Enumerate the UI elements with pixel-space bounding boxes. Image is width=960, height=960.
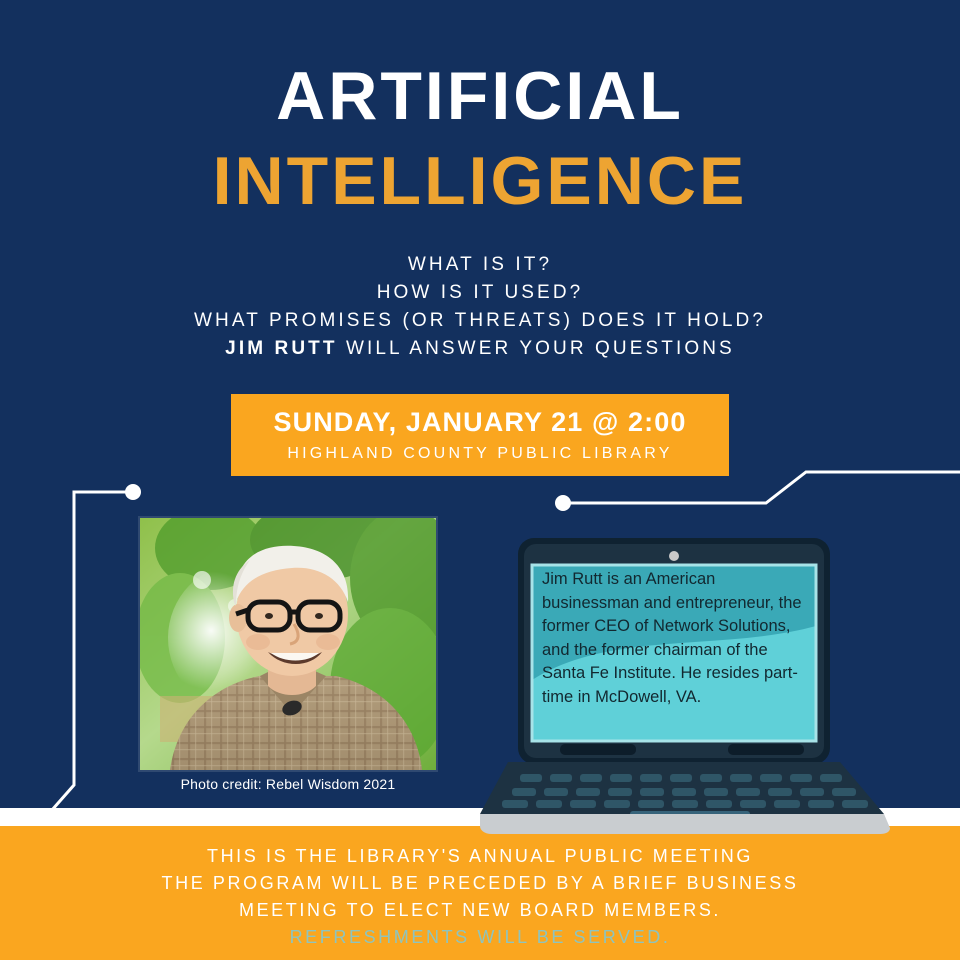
subtitle-text-3: WHAT PROMISES (OR THREATS) DOES IT HOLD? [194,310,766,331]
subtitle-line-4: JIM RUTT WILL ANSWER YOUR QUESTIONS [0,335,960,363]
poster-title: ARTIFICIAL INTELLIGENCE [0,62,960,217]
left-connector-dot-icon [125,484,141,500]
footer-line-3: MEETING TO ELECT NEW BOARD MEMBERS. [0,897,960,924]
footer-line-2: THE PROGRAM WILL BE PRECEDED BY A BRIEF … [0,870,960,897]
footer-line-refreshments: REFRESHMENTS WILL BE SERVED. [0,924,960,951]
subtitle-line-2: HOW IS IT USED? [0,279,960,307]
subtitle-text-2: HOW IS IT USED? [377,282,584,303]
footer-line-1: THIS IS THE LIBRARY'S ANNUAL PUBLIC MEET… [0,843,960,870]
left-connector-path [52,492,133,810]
footer-text-block: THIS IS THE LIBRARY'S ANNUAL PUBLIC MEET… [0,843,960,951]
event-venue-text: HIGHLAND COUNTY PUBLIC LIBRARY [287,445,672,463]
right-connector-path [563,472,960,503]
subtitle-line-3: WHAT PROMISES (OR THREATS) DOES IT HOLD? [0,307,960,335]
title-line-artificial: ARTIFICIAL [0,62,960,131]
speaker-photo [140,518,436,770]
laptop-webcam-icon [669,551,679,561]
right-connector-dot-icon [555,495,571,511]
speaker-name-bold: JIM RUTT [225,338,337,359]
event-details-banner: SUNDAY, JANUARY 21 @ 2:00 HIGHLAND COUNT… [231,394,729,476]
subtitle-text-1: WHAT IS IT? [408,254,552,275]
laptop-screen-text: Jim Rutt is an American businessman and … [542,568,810,710]
laptop-hinge-left [560,744,636,755]
subtitle-text-4: WILL ANSWER YOUR QUESTIONS [338,338,735,359]
laptop-illustration: Jim Rutt is an American businessman and … [480,530,920,835]
poster-canvas: ARTIFICIAL INTELLIGENCE WHAT IS IT? HOW … [0,0,960,960]
laptop-hinge-right [728,744,804,755]
event-date-text: SUNDAY, JANUARY 21 @ 2:00 [274,407,687,438]
title-line-intelligence: INTELLIGENCE [0,147,960,216]
photo-credit-caption: Photo credit: Rebel Wisdom 2021 [140,776,436,792]
speaker-portrait-illustration [140,518,436,770]
subtitle-line-1: WHAT IS IT? [0,251,960,279]
subtitle-block: WHAT IS IT? HOW IS IT USED? WHAT PROMISE… [0,251,960,363]
laptop-base-edge [480,814,890,834]
